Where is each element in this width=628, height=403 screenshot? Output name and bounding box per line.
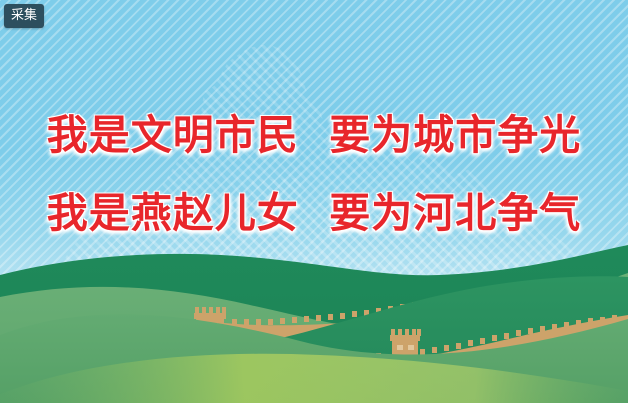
landscape-illustration <box>0 243 628 403</box>
capture-button[interactable]: 采集 <box>4 4 44 28</box>
slogan-block: 我是文明市民 要为城市争光 我是燕赵儿女 要为河北争气 <box>0 96 628 252</box>
slogan-line-1: 我是文明市民 要为城市争光 <box>0 96 628 174</box>
slogan-line-2: 我是燕赵儿女 要为河北争气 <box>0 174 628 252</box>
banner-canvas: 我是文明市民 要为城市争光 我是燕赵儿女 要为河北争气 采集 <box>0 0 628 403</box>
